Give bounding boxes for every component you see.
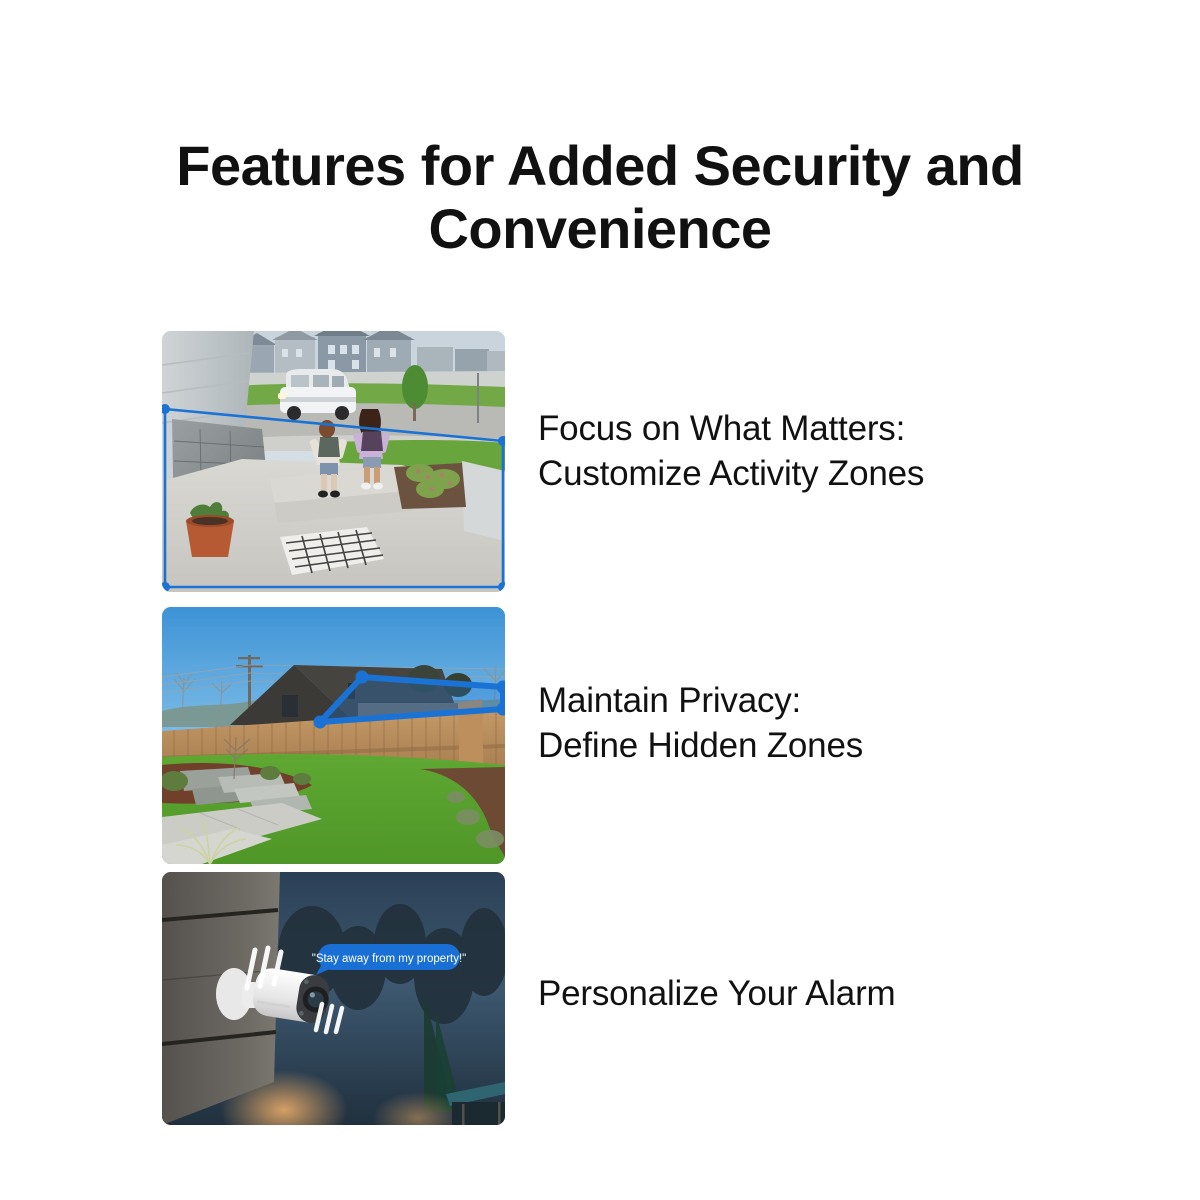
thumbnail-backyard-hidden-zone[interactable] [162,607,505,864]
feature-caption-personalize-alarm: Personalize Your Alarm [538,972,1098,1017]
doorbell-camera-scene [162,331,505,592]
thumbnail-doorbell-camera-activity-zone[interactable] [162,331,505,592]
page-title: Features for Added Security and Convenie… [100,134,1100,261]
backyard-scene [162,607,505,864]
feature-caption-hidden-zones: Maintain Privacy: Define Hidden Zones [538,679,1098,769]
page-root: Features for Added Security and Convenie… [0,0,1200,1200]
speech-bubble-text: "Stay away from my property!" [312,953,467,965]
feature-caption-activity-zones: Focus on What Matters: Customize Activit… [538,407,1098,497]
thumbnail-wall-camera-custom-alarm[interactable]: "Stay away from my property!" [162,872,505,1125]
wall-camera-scene: "Stay away from my property!" [162,872,505,1125]
